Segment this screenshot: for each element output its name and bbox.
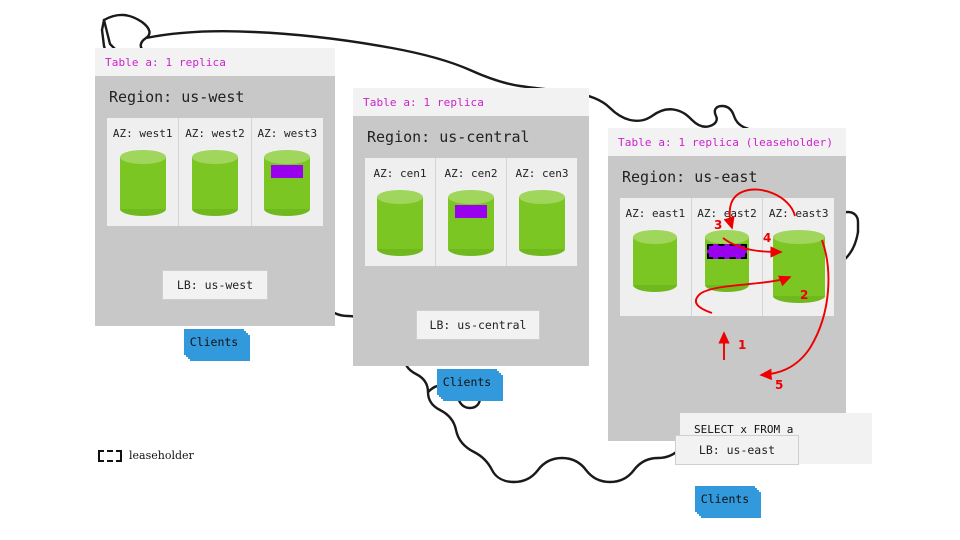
az-cell-east2[interactable]: AZ: east2 [692, 198, 764, 316]
cylinder-body [120, 157, 166, 209]
replica-cylinder-east2[interactable] [705, 230, 749, 292]
diagram-stage: Table a: 1 replica Region: us-west AZ: w… [0, 0, 960, 540]
cylinder-top [448, 190, 494, 204]
leaseholder-marker-cen2 [455, 205, 487, 218]
cylinder-body [633, 237, 677, 285]
clients-us-central[interactable]: Clients [437, 369, 499, 397]
az-row-us-central: AZ: cen1 AZ: cen2 [365, 158, 577, 266]
load-balancer-us-central[interactable]: LB: us-central [416, 310, 540, 340]
replica-cylinder-cen1[interactable] [377, 190, 423, 256]
az-label-west2: AZ: west2 [185, 127, 245, 140]
legend: leaseholder [98, 449, 194, 462]
az-row-us-west: AZ: west1 AZ: west2 [107, 118, 323, 226]
cylinder-top [264, 150, 310, 164]
cylinder-body [192, 157, 238, 209]
flow-step-number-3: 3 [714, 218, 722, 232]
leaseholder-marker-east2 [707, 244, 747, 259]
az-cell-west2[interactable]: AZ: west2 [179, 118, 251, 226]
cylinder-top [705, 230, 749, 244]
clients-us-west[interactable]: Clients [184, 329, 246, 357]
replica-cylinder-east3[interactable] [773, 230, 825, 303]
flow-step-number-1: 1 [738, 338, 746, 352]
legend-label-leaseholder: leaseholder [129, 449, 194, 462]
replica-cylinder-cen2[interactable] [448, 190, 494, 256]
az-label-cen2: AZ: cen2 [445, 167, 498, 180]
leaseholder-marker-west3 [271, 165, 303, 178]
az-cell-east1[interactable]: AZ: east1 [620, 198, 692, 316]
az-label-west3: AZ: west3 [258, 127, 318, 140]
replica-cylinder-west3[interactable] [264, 150, 310, 216]
load-balancer-us-east[interactable]: LB: us-east [675, 435, 799, 465]
flow-step-number-5: 5 [775, 378, 783, 392]
region-title-us-east: Region: us-east [608, 156, 846, 198]
panel-header-us-east: Table a: 1 replica (leaseholder) [608, 128, 846, 156]
panel-header-us-west: Table a: 1 replica [95, 48, 335, 76]
cylinder-top [633, 230, 677, 244]
replica-cylinder-west2[interactable] [192, 150, 238, 216]
az-label-cen3: AZ: cen3 [516, 167, 569, 180]
az-label-east2: AZ: east2 [697, 207, 757, 220]
az-cell-cen1[interactable]: AZ: cen1 [365, 158, 436, 266]
replica-cylinder-cen3[interactable] [519, 190, 565, 256]
cylinder-top [192, 150, 238, 164]
clients-label-us-central: Clients [437, 369, 497, 395]
cylinder-top [519, 190, 565, 204]
az-cell-cen3[interactable]: AZ: cen3 [507, 158, 577, 266]
cylinder-body [377, 197, 423, 249]
replica-cylinder-west1[interactable] [120, 150, 166, 216]
cylinder-top [377, 190, 423, 204]
az-label-east1: AZ: east1 [626, 207, 686, 220]
region-title-us-central: Region: us-central [353, 116, 589, 158]
region-panel-us-central: Table a: 1 replica Region: us-central AZ… [353, 88, 589, 366]
az-cell-cen2[interactable]: AZ: cen2 [436, 158, 507, 266]
clients-label-us-east: Clients [695, 486, 755, 512]
region-title-us-west: Region: us-west [95, 76, 335, 118]
clients-us-east[interactable]: Clients [695, 486, 757, 514]
cylinder-top [120, 150, 166, 164]
az-cell-east3[interactable]: AZ: east3 [763, 198, 834, 316]
replica-cylinder-east1[interactable] [633, 230, 677, 292]
region-panel-us-east: Table a: 1 replica (leaseholder) Region:… [608, 128, 846, 441]
cylinder-body [773, 237, 825, 296]
az-label-east3: AZ: east3 [769, 207, 829, 220]
az-cell-west1[interactable]: AZ: west1 [107, 118, 179, 226]
cylinder-body [519, 197, 565, 249]
cylinder-top [773, 230, 825, 244]
clients-label-us-west: Clients [184, 329, 244, 355]
az-label-cen1: AZ: cen1 [374, 167, 427, 180]
flow-step-number-4: 4 [763, 231, 771, 245]
load-balancer-us-west[interactable]: LB: us-west [162, 270, 268, 300]
panel-header-us-central: Table a: 1 replica [353, 88, 589, 116]
leaseholder-swatch-icon [98, 450, 122, 462]
panel-body-us-east: Region: us-east AZ: east1 AZ: east2 [608, 156, 846, 441]
az-label-west1: AZ: west1 [113, 127, 173, 140]
az-cell-west3[interactable]: AZ: west3 [252, 118, 323, 226]
region-panel-us-west: Table a: 1 replica Region: us-west AZ: w… [95, 48, 335, 326]
flow-step-number-2: 2 [800, 288, 808, 302]
